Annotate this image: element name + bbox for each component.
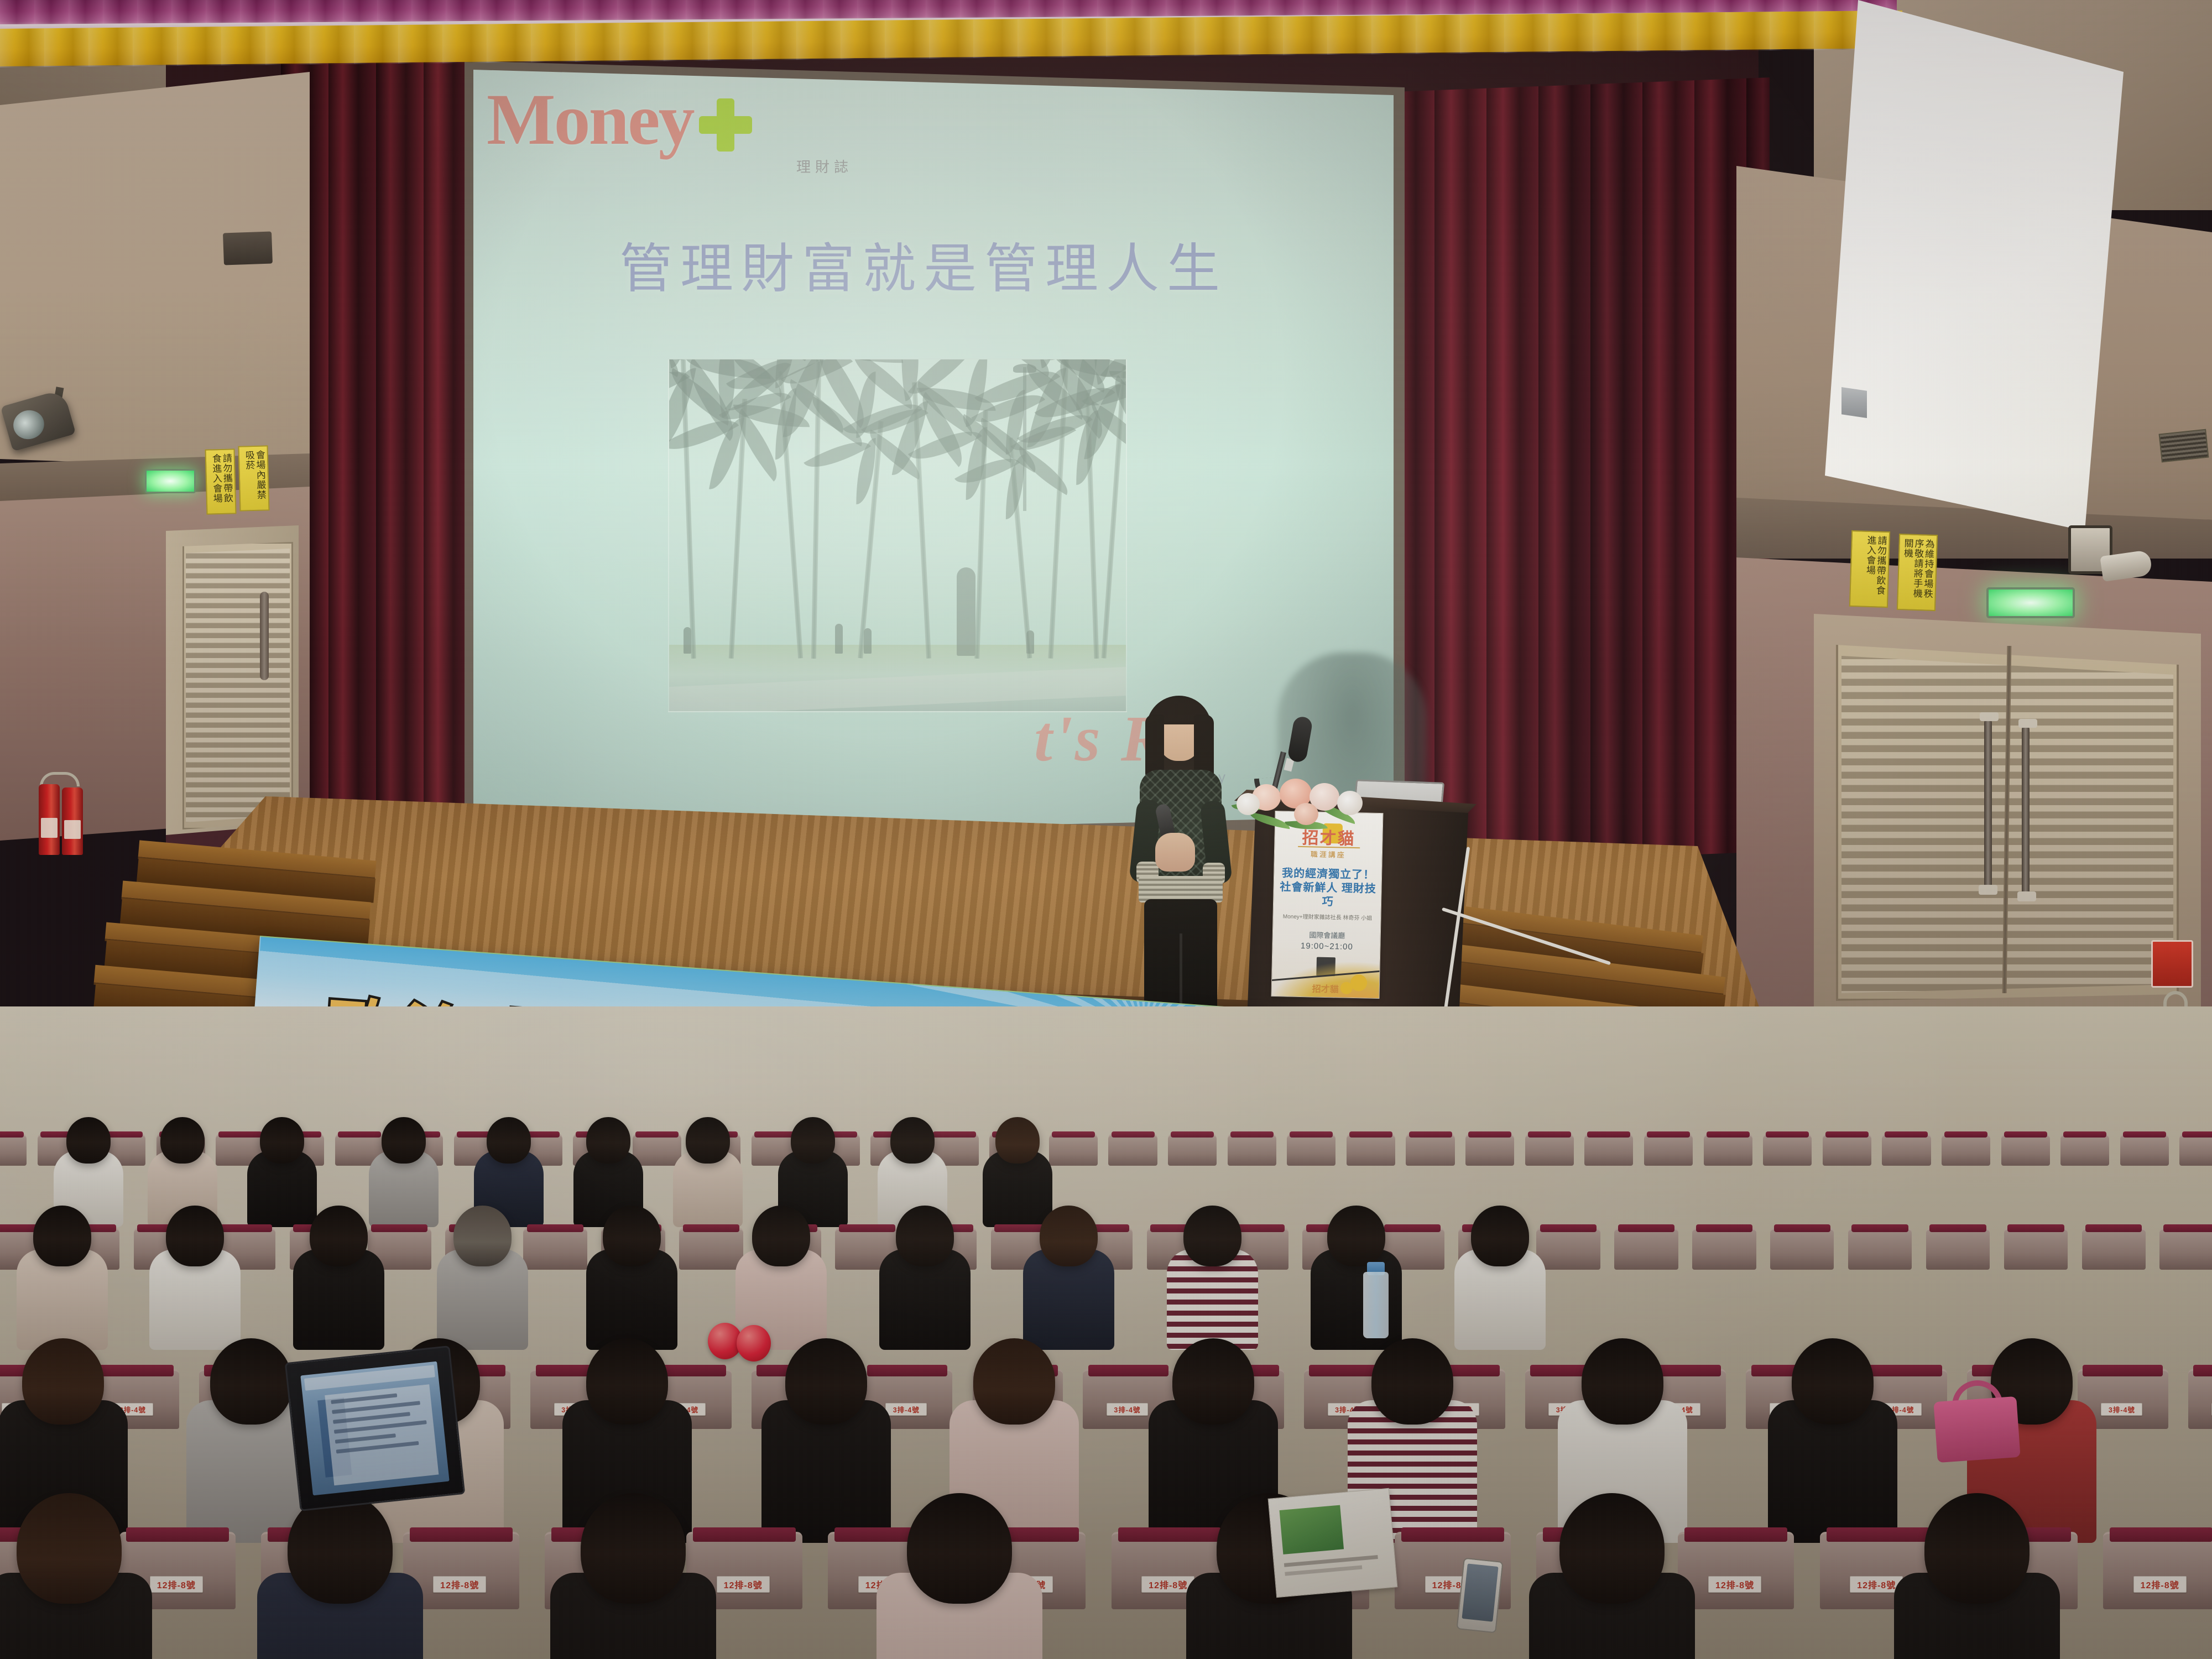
audience-member-head	[66, 1117, 111, 1164]
mobile-phone[interactable]	[1456, 1558, 1503, 1634]
handout-text-line	[1284, 1555, 1378, 1567]
seat-back[interactable]	[2103, 1532, 2212, 1609]
seat-back[interactable]	[1942, 1133, 1990, 1166]
audience-laptop[interactable]	[285, 1345, 466, 1511]
seat-back[interactable]	[1168, 1133, 1217, 1166]
audience-member-head	[752, 1206, 810, 1266]
seat-cushion[interactable]	[839, 1224, 895, 1232]
seat-cushion[interactable]	[371, 1224, 427, 1232]
handbag	[1933, 1396, 2020, 1463]
seat-back[interactable]	[523, 1227, 587, 1270]
seat-cushion[interactable]	[338, 1131, 381, 1138]
seat-cushion[interactable]	[867, 1365, 947, 1376]
audience-member-head	[160, 1117, 205, 1164]
audience-member-head	[1792, 1338, 1874, 1425]
seat-cushion[interactable]	[1827, 1527, 1929, 1542]
seat-cushion[interactable]	[1409, 1131, 1452, 1138]
seat-cushion[interactable]	[1684, 1527, 1787, 1542]
seat-back[interactable]	[633, 1133, 681, 1166]
seat-back[interactable]	[1465, 1133, 1514, 1166]
audience-member-head	[785, 1338, 867, 1425]
audience-member-head	[1559, 1493, 1665, 1604]
seat-number-plate: 12排-8號	[717, 1576, 770, 1593]
audience-member-head	[1582, 1338, 1663, 1425]
audience-member-head	[791, 1117, 835, 1164]
seat-back[interactable]	[679, 1227, 743, 1270]
auditorium-scene: Money 理財誌 管理財富就是管理人生 t's R Money 請勿攜帶飲食進…	[0, 0, 2212, 1659]
seat-back[interactable]	[1692, 1227, 1756, 1270]
seat-back[interactable]	[1882, 1133, 1931, 1166]
seat-cushion[interactable]	[1766, 1131, 1809, 1138]
seat-back[interactable]	[1704, 1133, 1752, 1166]
seat-back[interactable]	[1406, 1133, 1454, 1166]
seat-cushion[interactable]	[1862, 1365, 1942, 1376]
seat-cushion[interactable]	[1885, 1131, 1928, 1138]
seat-number-plate: 12排-8號	[150, 1576, 203, 1593]
seat-back[interactable]	[1108, 1133, 1157, 1166]
audience-member-head	[1183, 1206, 1241, 1266]
audience-member-head	[890, 1117, 935, 1164]
seat-cushion[interactable]	[218, 1131, 262, 1138]
audience-member-head	[310, 1206, 368, 1266]
handout-image	[1280, 1505, 1344, 1554]
audience-member-head	[260, 1117, 304, 1164]
seat-cushion[interactable]	[1171, 1131, 1214, 1138]
seat-cushion[interactable]	[2163, 1224, 2212, 1232]
audience-member-head	[166, 1206, 224, 1266]
audience-member-head	[487, 1117, 531, 1164]
seat-cushion[interactable]	[2007, 1224, 2064, 1232]
audience-member-head	[586, 1117, 630, 1164]
seat-back[interactable]	[1049, 1133, 1098, 1166]
seat-cushion[interactable]	[1112, 1131, 1155, 1138]
seat-number-plate: 12排-8號	[433, 1576, 486, 1593]
seat-cushion[interactable]	[635, 1131, 679, 1138]
seat-cushion[interactable]	[1052, 1131, 1095, 1138]
seat-back[interactable]	[2082, 1227, 2146, 1270]
seat-cushion[interactable]	[1707, 1131, 1750, 1138]
seat-back[interactable]	[1770, 1227, 1834, 1270]
seat-back[interactable]	[1848, 1227, 1912, 1270]
audience-member-head	[896, 1206, 954, 1266]
seat-back[interactable]	[2120, 1133, 2169, 1166]
seat-number-plate: 12排-8號	[2133, 1576, 2187, 1593]
seat-back[interactable]	[2060, 1133, 2109, 1166]
seat-cushion[interactable]	[126, 1527, 229, 1542]
seat-back[interactable]	[1347, 1133, 1395, 1166]
seat-cushion[interactable]	[2083, 1365, 2163, 1376]
audience-member-head	[382, 1117, 426, 1164]
seat-cushion[interactable]	[1290, 1131, 1333, 1138]
printed-handout	[1268, 1488, 1398, 1598]
seat-cushion[interactable]	[215, 1224, 272, 1232]
audience-member-head	[603, 1206, 661, 1266]
audience-member-head	[581, 1493, 686, 1604]
seat-back[interactable]	[1228, 1133, 1276, 1166]
water-bottle	[1363, 1272, 1389, 1338]
seat-cushion[interactable]	[1088, 1365, 1168, 1376]
laptop-screen[interactable]	[300, 1361, 449, 1496]
seat-cushion[interactable]	[1774, 1224, 1830, 1232]
seat-cushion[interactable]	[933, 1131, 976, 1138]
audience-member-head	[453, 1206, 512, 1266]
seat-back[interactable]	[1823, 1133, 1871, 1166]
audience-member-head	[586, 1338, 668, 1425]
seat-back[interactable]	[1584, 1133, 1633, 1166]
seat-cushion[interactable]	[0, 1224, 38, 1232]
seat-cushion[interactable]	[1825, 1131, 1869, 1138]
document-body	[325, 1384, 439, 1485]
audience-member-head	[686, 1117, 730, 1164]
seat-cushion[interactable]	[1647, 1131, 1690, 1138]
seat-cushion[interactable]	[527, 1224, 583, 1232]
audience-member-head	[1172, 1338, 1254, 1425]
seat-number-plate: 3排-4號	[885, 1403, 927, 1416]
seat-cushion[interactable]	[1349, 1131, 1392, 1138]
phone-screen	[1462, 1563, 1498, 1621]
seat-cushion[interactable]	[1230, 1131, 1274, 1138]
seat-back[interactable]	[1644, 1133, 1693, 1166]
seat-cushion[interactable]	[2110, 1527, 2212, 1542]
audience-member-head	[1371, 1338, 1453, 1425]
seat-cushion[interactable]	[693, 1527, 796, 1542]
handout-text-line	[1285, 1566, 1362, 1576]
seat-back[interactable]	[1926, 1227, 1990, 1270]
seat-cushion[interactable]	[1118, 1527, 1221, 1542]
seat-back[interactable]	[1763, 1133, 1812, 1166]
seat-cushion[interactable]	[1944, 1131, 1987, 1138]
seat-back[interactable]	[1536, 1227, 1600, 1270]
seat-cushion[interactable]	[1468, 1131, 1511, 1138]
seat-cushion[interactable]	[1929, 1224, 1986, 1232]
seat-back[interactable]	[2159, 1227, 2212, 1270]
seat-cushion[interactable]	[2085, 1224, 2142, 1232]
seat-number-plate: 12排-8號	[1708, 1576, 1761, 1593]
seat-cushion[interactable]	[2004, 1131, 2047, 1138]
audience-member-head	[1040, 1206, 1098, 1266]
audience-member-head	[1327, 1206, 1385, 1266]
seat-cushion[interactable]	[0, 1131, 24, 1138]
audience-member-head	[17, 1493, 122, 1604]
seat-back[interactable]	[1525, 1133, 1574, 1166]
seat-cushion[interactable]	[2123, 1131, 2166, 1138]
seat-number-plate: 3排-4號	[1107, 1403, 1148, 1416]
seat-back[interactable]	[2179, 1133, 2212, 1166]
seat-back[interactable]	[1287, 1133, 1335, 1166]
seat-cushion[interactable]	[2193, 1365, 2212, 1376]
seat-cushion[interactable]	[1401, 1527, 1504, 1542]
seat-number-plate: 3排-4號	[2101, 1403, 2142, 1416]
seat-cushion[interactable]	[1851, 1224, 1908, 1232]
seat-back[interactable]	[2188, 1369, 2212, 1429]
seat-cushion[interactable]	[1528, 1131, 1571, 1138]
audience-member-head	[1924, 1493, 2030, 1604]
seat-cushion[interactable]	[683, 1224, 739, 1232]
seat-back[interactable]	[1678, 1532, 1794, 1609]
seat-cushion[interactable]	[2063, 1131, 2106, 1138]
audience-member-head	[210, 1338, 292, 1425]
seat-back[interactable]	[2001, 1133, 2050, 1166]
audience-member-head	[907, 1493, 1012, 1604]
audience-member-head	[33, 1206, 91, 1266]
seat-cushion[interactable]	[1696, 1224, 1752, 1232]
hair-accessory	[708, 1322, 773, 1361]
seat-cushion[interactable]	[1618, 1224, 1674, 1232]
seat-back[interactable]	[0, 1133, 27, 1166]
seat-cushion[interactable]	[2182, 1131, 2212, 1138]
audience-member-head	[1471, 1206, 1529, 1266]
audience-member-head	[995, 1117, 1040, 1164]
seat-cushion[interactable]	[1384, 1224, 1441, 1232]
seat-cushion[interactable]	[1587, 1131, 1630, 1138]
audience-member-head	[973, 1338, 1055, 1425]
seat-cushion[interactable]	[93, 1365, 174, 1376]
seat-cushion[interactable]	[1540, 1224, 1597, 1232]
seat-cushion[interactable]	[410, 1527, 513, 1542]
seat-back[interactable]	[1614, 1227, 1678, 1270]
audience-member-head	[22, 1338, 104, 1425]
seat-back[interactable]	[2004, 1227, 2068, 1270]
